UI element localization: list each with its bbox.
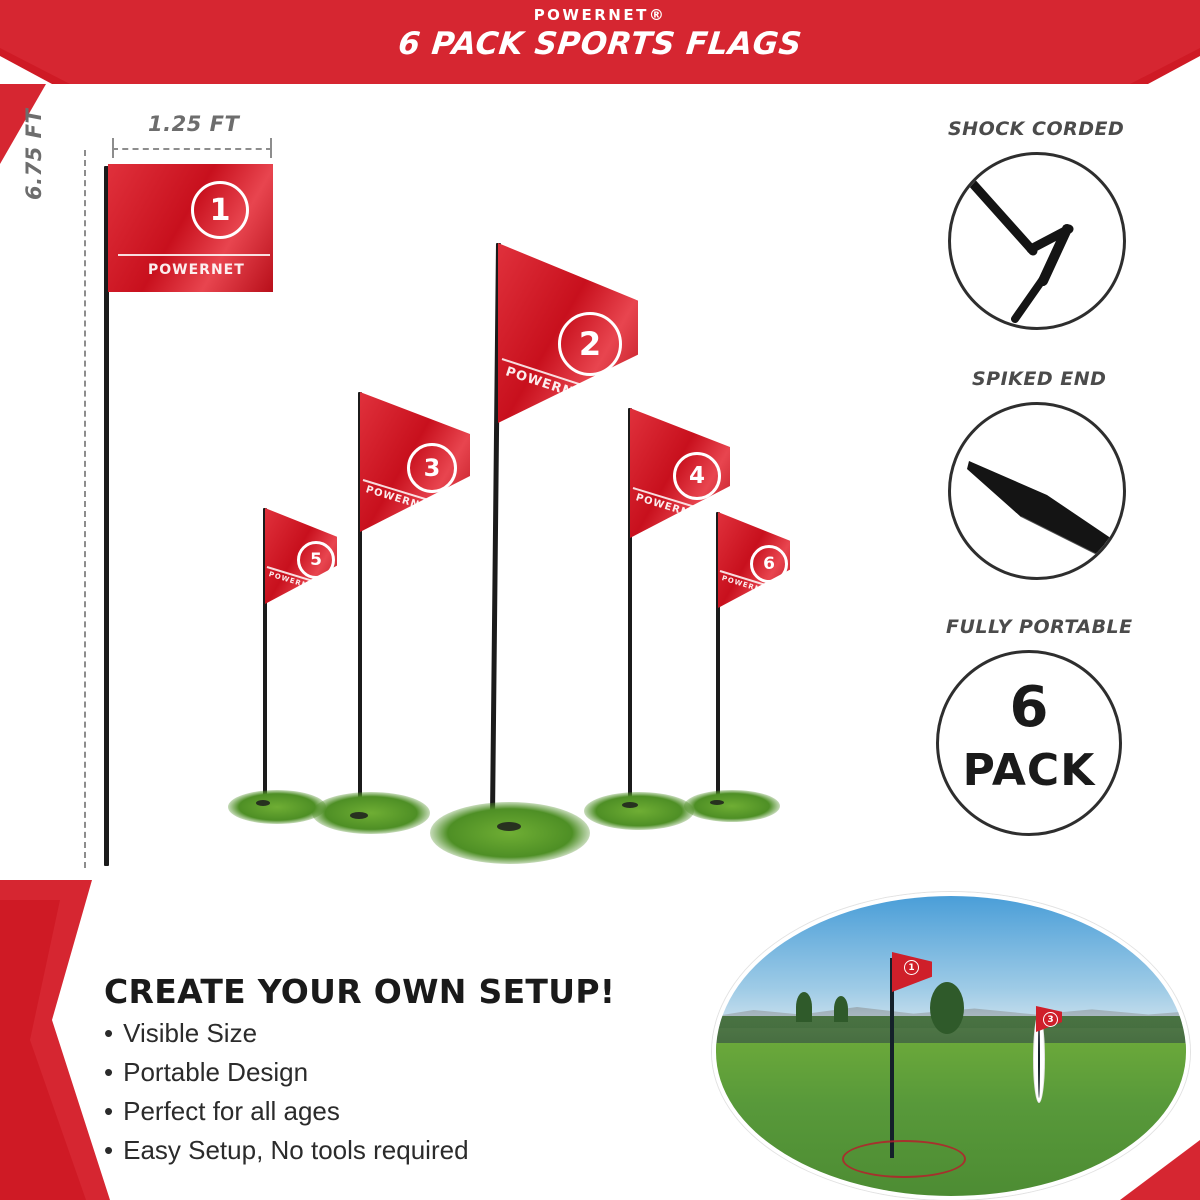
list-item-label: Perfect for all ages <box>123 1096 340 1126</box>
photo-grass-field <box>716 1043 1186 1196</box>
bullet-mark: • <box>104 1135 113 1165</box>
bullet-mark: • <box>104 1096 113 1126</box>
list-item: •Visible Size <box>104 1018 469 1049</box>
lifestyle-photo: 3 1 <box>712 892 1190 1200</box>
photo-ground-ring <box>842 1140 966 1178</box>
spike-tip-icon <box>951 405 1123 577</box>
ground-hole <box>710 800 724 805</box>
grass-patch <box>584 792 694 830</box>
feature-circle-spiked-end <box>948 402 1126 580</box>
flag-number-badge: 1 <box>191 181 249 239</box>
list-item-label: Easy Setup, No tools required <box>123 1135 468 1165</box>
flag-number-badge: 6 <box>750 545 788 583</box>
bullet-mark: • <box>104 1057 113 1087</box>
flag-number-badge: 5 <box>297 541 335 579</box>
bullet-mark: • <box>104 1018 113 1048</box>
photo-flag-back-number: 3 <box>1043 1012 1058 1027</box>
grass-patch <box>312 792 430 834</box>
flag-brand-divider <box>118 254 270 256</box>
flag-number-badge: 2 <box>558 312 622 376</box>
list-item: •Portable Design <box>104 1057 469 1088</box>
photo-palm-tree <box>834 996 848 1022</box>
flag-number-badge: 3 <box>407 443 457 493</box>
pack-count: 6 <box>939 675 1119 740</box>
grass-patch <box>684 790 780 822</box>
list-item-label: Visible Size <box>123 1018 257 1048</box>
product-infographic: POWERNET® 6 PACK SPORTS FLAGS 1.25 FT 6.… <box>0 0 1200 1200</box>
feature-title-fully-portable: FULLY PORTABLE <box>946 616 1133 638</box>
ground-hole <box>497 822 521 831</box>
flag-group: 1 POWERNET 2 POWERNET 3 POWERNET 4 POWER <box>0 0 900 880</box>
photo-palm-tree <box>796 992 812 1022</box>
feature-circle-shock-corded <box>948 152 1126 330</box>
bent-pole-icon <box>951 155 1123 327</box>
grass-patch <box>228 790 326 824</box>
feature-circle-fully-portable: 6 PACK <box>936 650 1122 836</box>
list-item: •Perfect for all ages <box>104 1096 469 1127</box>
grass-patch <box>430 802 590 864</box>
ground-hole <box>622 802 638 808</box>
photo-flag-front-number: 1 <box>904 960 919 975</box>
photo-palm-tree <box>930 982 964 1034</box>
feature-title-spiked-end: SPIKED END <box>972 368 1106 390</box>
ground-hole <box>350 812 368 819</box>
flag-number-badge: 4 <box>673 452 721 500</box>
ground-hole <box>256 800 270 806</box>
flag-brand-text: POWERNET <box>148 262 245 278</box>
pack-word: PACK <box>939 745 1119 796</box>
list-item: •Easy Setup, No tools required <box>104 1135 469 1166</box>
feature-title-shock-corded: SHOCK CORDED <box>948 118 1124 140</box>
list-item-label: Portable Design <box>123 1057 308 1087</box>
feature-bullet-list: •Visible Size •Portable Design •Perfect … <box>104 1018 469 1174</box>
cta-heading: CREATE YOUR OWN SETUP! <box>104 972 615 1011</box>
